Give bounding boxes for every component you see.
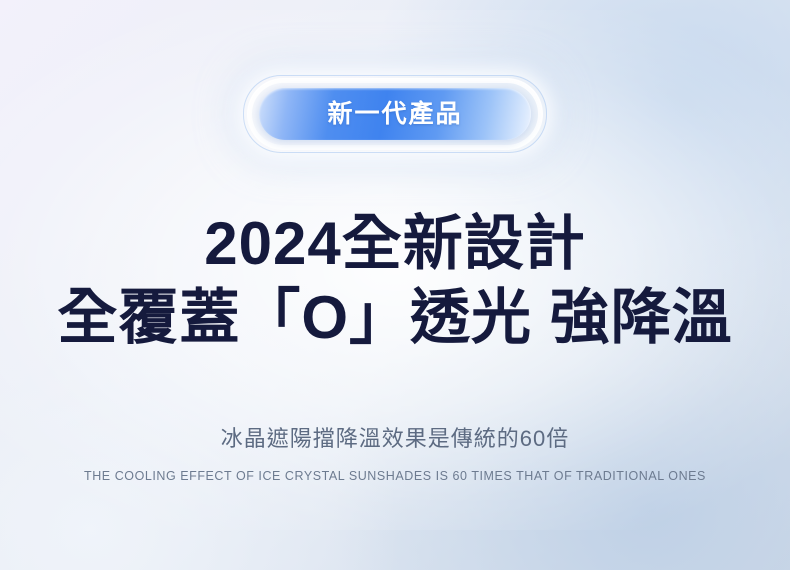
banner-content: 新一代產品 2024全新設計 全覆蓋「O」透光 強降溫 冰晶遮陽擋降溫效果是傳統…	[0, 0, 790, 570]
badge-label: 新一代產品	[327, 102, 462, 127]
subtitle-chinese: 冰晶遮陽擋降溫效果是傳統的60倍	[221, 421, 569, 453]
headline-block: 2024全新設計 全覆蓋「O」透光 強降溫	[57, 212, 732, 349]
product-hero-banner: 新一代產品 2024全新設計 全覆蓋「O」透光 強降溫 冰晶遮陽擋降溫效果是傳統…	[0, 0, 790, 570]
new-generation-badge: 新一代產品	[259, 88, 531, 140]
headline-line-1: 2024全新設計	[57, 212, 732, 276]
badge-pill: 新一代產品	[259, 88, 531, 140]
headline-line-2: 全覆蓋「O」透光 強降溫	[57, 286, 732, 350]
caption-english: THE COOLING EFFECT OF ICE CRYSTAL SUNSHA…	[84, 469, 706, 483]
